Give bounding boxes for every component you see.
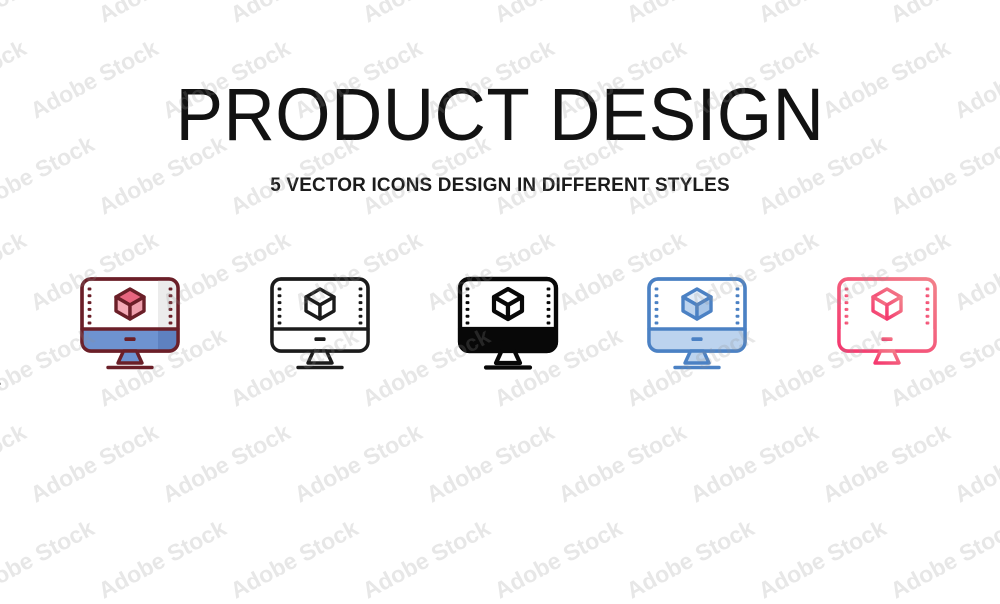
screen-side-dot <box>466 301 470 304</box>
watermark-tile: Adobe Stock <box>26 419 163 509</box>
screen-side-dot <box>466 315 470 318</box>
screen-side-dot <box>547 308 551 311</box>
screen-side-dot <box>466 294 470 297</box>
screen-side-dot <box>278 294 282 297</box>
screen-side-dot <box>88 301 92 304</box>
monitor-stand-neck <box>875 351 899 363</box>
watermark-tile: Adobe Stock <box>754 0 891 28</box>
screen-side-dot <box>926 294 930 297</box>
screen-side-dot <box>169 294 173 297</box>
watermark-tile: Adobe Stock <box>0 419 31 509</box>
watermark-tile: Adobe Stock <box>622 0 759 28</box>
screen-side-dot <box>169 322 173 325</box>
watermark-tile: Adobe Stock <box>886 515 1000 604</box>
monitor-indicator <box>502 337 513 341</box>
product-design-icon <box>255 262 385 392</box>
icon-variant-duotone-blue[interactable] <box>632 262 762 392</box>
watermark-tile: Adobe Stock <box>290 419 427 509</box>
watermark-tile: Adobe Stock <box>226 0 363 28</box>
screen-side-dot <box>169 301 173 304</box>
watermark-tile: Adobe Stock <box>950 419 1000 509</box>
monitor-indicator <box>314 337 325 341</box>
watermark-tile: Adobe Stock <box>490 515 627 604</box>
screen-side-dot <box>278 315 282 318</box>
screen-side-dot <box>926 288 930 291</box>
monitor-stand-neck <box>308 351 332 363</box>
screen-side-dot <box>466 322 470 325</box>
screen-side-dot <box>655 315 659 318</box>
icon-variant-glyph[interactable] <box>443 262 573 392</box>
screen-side-dot <box>359 308 363 311</box>
screen-side-dot <box>736 288 740 291</box>
watermark-tile: Adobe Stock <box>0 515 99 604</box>
page-subtitle: 5 VECTOR ICONS DESIGN IN DIFFERENT STYLE… <box>15 176 985 196</box>
watermark-tile: Adobe Stock <box>94 0 231 28</box>
page-title: PRODUCT DESIGN <box>20 78 980 152</box>
screen-side-dot <box>655 301 659 304</box>
screen-side-dot <box>359 322 363 325</box>
watermark-tile: Adobe Stock <box>0 0 99 28</box>
screen-side-dot <box>926 301 930 304</box>
screen-side-dot <box>736 294 740 297</box>
screen-side-dot <box>278 288 282 291</box>
product-design-icon <box>822 262 952 392</box>
screen-side-dot <box>547 294 551 297</box>
poster-canvas: PRODUCT DESIGN 5 VECTOR ICONS DESIGN IN … <box>0 0 1000 500</box>
product-design-icon <box>443 262 573 392</box>
screen-side-dot <box>736 301 740 304</box>
watermark-tile: Adobe Stock <box>226 515 363 604</box>
screen-side-dot <box>845 322 849 325</box>
screen-side-dot <box>655 322 659 325</box>
screen-side-dot <box>736 322 740 325</box>
screen-side-dot <box>88 315 92 318</box>
watermark-tile: Adobe Stock <box>886 0 1000 28</box>
monitor-stand-neck <box>118 351 142 363</box>
icon-variant-filled-color[interactable] <box>65 262 195 392</box>
monitor-indicator <box>881 337 892 341</box>
screen-side-dot <box>278 301 282 304</box>
icon-showcase-row <box>0 262 1000 392</box>
screen-side-dot <box>547 301 551 304</box>
watermark-tile: Adobe Stock <box>422 419 559 509</box>
screen-side-dot <box>359 301 363 304</box>
screen-side-dot <box>169 288 173 291</box>
screen-side-dot <box>926 322 930 325</box>
watermark-tile: Adobe Stock <box>94 515 231 604</box>
screen-side-dot <box>278 322 282 325</box>
watermark-tile: Adobe Stock <box>686 419 823 509</box>
watermark-tile: Adobe Stock <box>622 515 759 604</box>
screen-side-dot <box>359 294 363 297</box>
screen-side-dot <box>547 288 551 291</box>
screen-side-dot <box>845 301 849 304</box>
screen-side-dot <box>88 288 92 291</box>
screen-side-dot <box>466 288 470 291</box>
screen-side-dot <box>845 308 849 311</box>
screen-side-dot <box>88 308 92 311</box>
watermark-tile: Adobe Stock <box>490 0 627 28</box>
icon-variant-line[interactable] <box>255 262 385 392</box>
screen-side-dot <box>655 294 659 297</box>
screen-side-dot <box>845 315 849 318</box>
screen-side-dot <box>845 288 849 291</box>
screen-side-dot <box>169 308 173 311</box>
monitor-indicator <box>691 337 702 341</box>
icon-variant-gradient-pink[interactable] <box>822 262 952 392</box>
watermark-tile: Adobe Stock <box>818 419 955 509</box>
monitor-stand-neck <box>496 351 520 363</box>
screen-side-dot <box>736 315 740 318</box>
screen-side-dot <box>169 315 173 318</box>
watermark-tile: Adobe Stock <box>554 419 691 509</box>
screen-side-dot <box>655 308 659 311</box>
screen-side-dot <box>547 322 551 325</box>
screen-side-dot <box>926 308 930 311</box>
monitor-indicator <box>124 337 135 341</box>
screen-side-dot <box>926 315 930 318</box>
product-design-icon <box>632 262 762 392</box>
screen-side-dot <box>88 294 92 297</box>
watermark-tile: Adobe Stock <box>358 515 495 604</box>
screen-side-dot <box>845 294 849 297</box>
watermark-tile: Adobe Stock <box>358 0 495 28</box>
screen-side-dot <box>359 288 363 291</box>
monitor-stand-neck <box>685 351 709 363</box>
screen-side-dot <box>466 308 470 311</box>
screen-side-dot <box>359 315 363 318</box>
product-design-icon <box>65 262 195 392</box>
screen-side-dot <box>736 308 740 311</box>
watermark-tile: Adobe Stock <box>158 419 295 509</box>
screen-side-dot <box>547 315 551 318</box>
screen-side-dot <box>655 288 659 291</box>
screen-side-dot <box>88 322 92 325</box>
stock-watermark-vertical: Adobe Stock | #667731084 <box>0 283 2 494</box>
screen-side-dot <box>278 308 282 311</box>
watermark-tile: Adobe Stock <box>754 515 891 604</box>
